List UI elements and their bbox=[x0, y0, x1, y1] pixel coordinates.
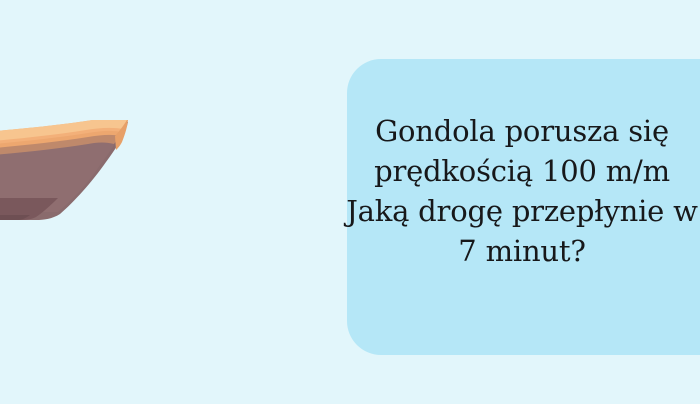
question-line-4: 7 minut? bbox=[342, 231, 700, 271]
slide-canvas: Gondola porusza się prędkością 100 m/m J… bbox=[0, 0, 700, 404]
question-line-1: Gondola porusza się bbox=[342, 111, 700, 151]
question-callout-card: Gondola porusza się prędkością 100 m/m J… bbox=[347, 59, 700, 355]
question-line-2: prędkością 100 m/m bbox=[342, 151, 700, 191]
gondola-boat-icon bbox=[0, 120, 260, 235]
question-text: Gondola porusza się prędkością 100 m/m J… bbox=[342, 111, 700, 271]
question-line-3: Jaką drogę przepłynie w bbox=[342, 191, 700, 231]
gondola-boat-illustration bbox=[0, 120, 260, 235]
